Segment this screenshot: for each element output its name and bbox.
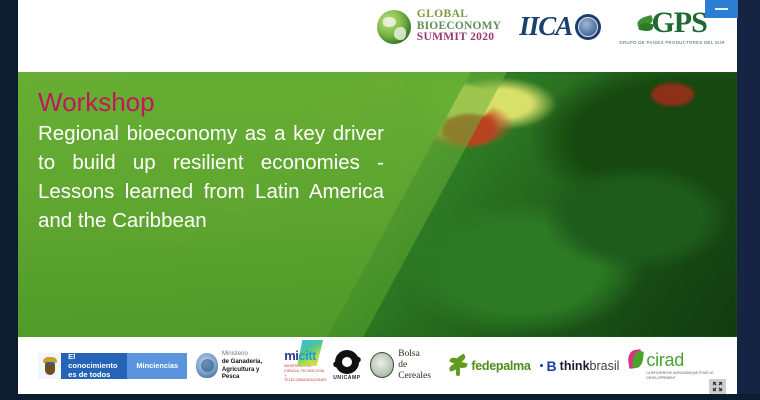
minimize-icon (715, 8, 728, 10)
gps-wordmark: GPS (651, 8, 706, 38)
fullscreen-expand-icon (712, 381, 723, 392)
header-logo-strip: GLOBAL BIOECONOMY SUMMIT 2020 IICA GPS G… (377, 8, 725, 45)
bolsa-de-cereales-logo: Bolsa de Cereales (370, 349, 440, 382)
minciencias-brand: Minciencias (127, 353, 187, 379)
slide-eyebrow: Workshop (38, 88, 384, 117)
colombia-coat-of-arms-icon (38, 353, 61, 379)
circular-seal-icon (370, 352, 394, 378)
think-brasil-logo: B thinkbrasil (540, 358, 620, 374)
micitt-mark: micitt (284, 348, 316, 363)
cirad-mark: cirad (628, 350, 684, 369)
green-globe-icon (377, 10, 411, 44)
mgap-line-1: Ministerio (222, 350, 275, 358)
gps-mark: GPS (637, 8, 706, 38)
leaf-icon (637, 13, 654, 33)
minimize-button[interactable] (705, 0, 738, 18)
think-brasil-mark: B (547, 358, 557, 374)
minciencias-tagline-line-1: El conocimiento (68, 352, 120, 371)
think-brasil-dot-icon (540, 364, 543, 367)
app-chrome-bottom-edge (0, 394, 760, 400)
mgap-line-3: Agricultura y Pesca (222, 366, 260, 381)
slide-body: Workshop Regional bioeconomy as a key dr… (18, 72, 737, 337)
presentation-viewer: GLOBAL BIOECONOMY SUMMIT 2020 IICA GPS G… (0, 0, 760, 400)
gbs-wordmark: GLOBAL BIOECONOMY SUMMIT 2020 (417, 9, 501, 44)
sponsor-logo-bar: El conocimiento es de todos Minciencias … (18, 337, 737, 394)
leaf-mark-icon (628, 350, 644, 369)
think-brasil-wordmark: thinkbrasil (560, 359, 620, 373)
fedepalma-wordmark: fedepalma (471, 359, 530, 373)
slide-header: GLOBAL BIOECONOMY SUMMIT 2020 IICA GPS G… (18, 0, 737, 72)
fedepalma-logo: fedepalma (448, 355, 530, 377)
bolsa-line-2: de Cereales (398, 360, 439, 382)
iica-wordmark: IICA (519, 11, 572, 42)
gps-subtitle: GRUPO DE PAISES PRODUCTORES DEL SUR (619, 40, 725, 45)
mgap-wordmark: Ministerio de Ganadería, Agricultura y P… (222, 350, 275, 382)
bolsa-line-1: Bolsa (398, 349, 439, 360)
mgap-line-2: de Ganadería, (222, 358, 262, 365)
slide-canvas: GLOBAL BIOECONOMY SUMMIT 2020 IICA GPS G… (18, 0, 737, 394)
minciencias-logo: El conocimiento es de todos Minciencias (38, 353, 187, 379)
iica-logo: IICA (519, 11, 601, 42)
minciencias-tagline: El conocimiento es de todos (61, 353, 127, 379)
minciencias-tagline-line-2: es de todos (68, 370, 120, 379)
unicamp-wordmark: UNICAMP (333, 375, 361, 381)
cirad-logo: cirad LA RECHERCHE AGRONOMIQUE POUR LE D… (628, 350, 737, 380)
app-chrome-right-edge (737, 0, 760, 400)
cirad-wordmark: cirad (646, 351, 684, 369)
micitt-logo: micitt MINISTERIO DE CIENCIA, TECNOLOGÍA… (284, 348, 324, 383)
slide-text-block: Workshop Regional bioeconomy as a key dr… (38, 88, 384, 236)
unicamp-mark-icon (335, 350, 359, 374)
unicamp-logo: UNICAMP (333, 350, 361, 381)
micitt-wordmark: micitt (284, 348, 316, 363)
page-title: Regional bioeconomy as a key driver to b… (38, 119, 384, 235)
globe-seal-icon (575, 14, 601, 40)
gbs-line-3: SUMMIT 2020 (417, 32, 501, 44)
mgap-uruguay-logo: Ministerio de Ganadería, Agricultura y P… (196, 350, 275, 382)
micitt-subtitle: MINISTERIO DE CIENCIA, TECNOLOGÍA Y TELE… (284, 364, 324, 383)
uruguay-seal-icon (196, 353, 218, 378)
bolsa-wordmark: Bolsa de Cereales (398, 349, 439, 382)
global-bioeconomy-summit-logo: GLOBAL BIOECONOMY SUMMIT 2020 (377, 9, 501, 44)
fullscreen-button[interactable] (709, 379, 726, 394)
app-chrome-left-edge (0, 0, 18, 400)
palm-tree-icon (448, 355, 469, 377)
